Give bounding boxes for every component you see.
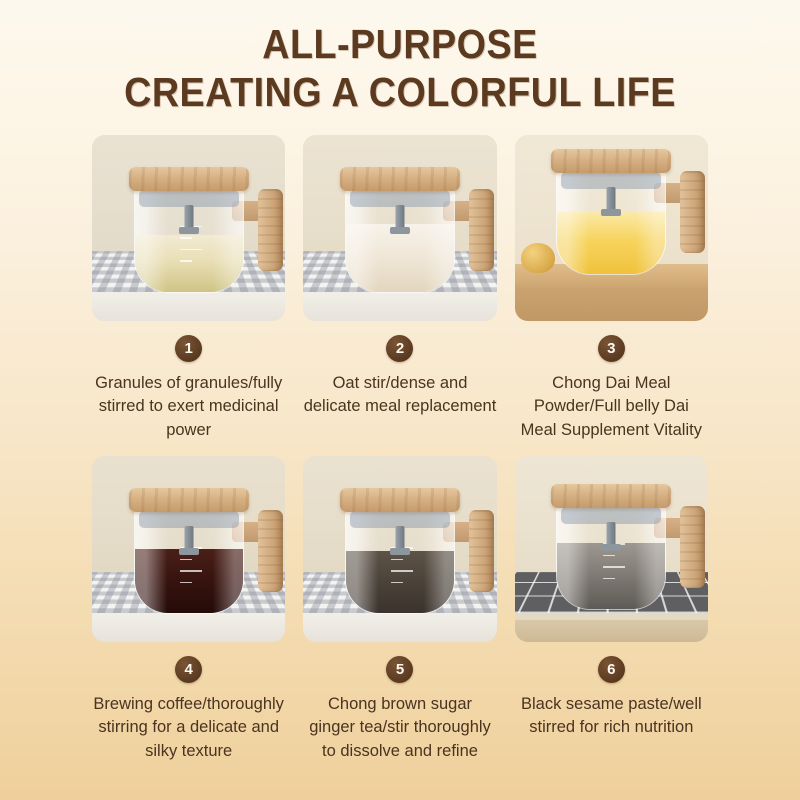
self-stirring-mug bbox=[341, 488, 459, 616]
wooden-lid bbox=[551, 149, 671, 173]
scenario-caption-1: Granules of granules/fully stirred to ex… bbox=[92, 372, 285, 442]
product-photo-4 bbox=[92, 456, 285, 642]
usage-scenario-grid: 1 Granules of granules/fully stirred to … bbox=[0, 135, 800, 764]
stirrer-paddle bbox=[179, 548, 199, 555]
product-photo-1 bbox=[92, 135, 285, 321]
stirrer-paddle bbox=[601, 544, 621, 551]
table-surface bbox=[92, 612, 285, 642]
wooden-lid bbox=[129, 488, 249, 512]
scenario-card-3[interactable]: 3 Chong Dai Meal Powder/Full belly Dai M… bbox=[515, 135, 708, 442]
measurement-marks bbox=[180, 226, 224, 282]
self-stirring-mug bbox=[130, 488, 248, 616]
measurement-marks bbox=[391, 547, 435, 603]
product-photo-6 bbox=[515, 456, 708, 642]
wooden-lid bbox=[551, 484, 671, 508]
stirrer-paddle bbox=[601, 209, 621, 216]
table-surface bbox=[303, 612, 496, 642]
product-photo-5 bbox=[303, 456, 496, 642]
step-badge-6: 6 bbox=[598, 656, 625, 683]
product-photo-2 bbox=[303, 135, 496, 321]
scenario-card-2[interactable]: 2 Oat stir/dense and delicate meal repla… bbox=[303, 135, 496, 442]
table-surface bbox=[515, 620, 708, 642]
measurement-marks bbox=[180, 547, 224, 603]
step-badge-1: 1 bbox=[175, 335, 202, 362]
stirrer-paddle bbox=[390, 227, 410, 234]
self-stirring-mug bbox=[130, 167, 248, 295]
self-stirring-mug bbox=[552, 149, 670, 277]
scenario-caption-3: Chong Dai Meal Powder/Full belly Dai Mea… bbox=[515, 372, 708, 442]
wooden-lid bbox=[340, 488, 460, 512]
self-stirring-mug bbox=[552, 484, 670, 612]
page-title-line-2: CREATING A COLORFUL LIFE bbox=[32, 68, 768, 116]
scenario-card-5[interactable]: 5 Chong brown sugar ginger tea/stir thor… bbox=[303, 456, 496, 763]
measurement-marks bbox=[603, 543, 647, 599]
header: ALL-PURPOSE CREATING A COLORFUL LIFE bbox=[0, 0, 800, 117]
step-badge-3: 3 bbox=[598, 335, 625, 362]
page-title-line-1: ALL-PURPOSE bbox=[32, 20, 768, 68]
scenario-card-4[interactable]: 4 Brewing coffee/thoroughly stirring for… bbox=[92, 456, 285, 763]
scenario-card-1[interactable]: 1 Granules of granules/fully stirred to … bbox=[92, 135, 285, 442]
stirrer-paddle bbox=[179, 227, 199, 234]
scenario-caption-2: Oat stir/dense and delicate meal replace… bbox=[303, 372, 496, 419]
scenario-caption-5: Chong brown sugar ginger tea/stir thorou… bbox=[303, 693, 496, 763]
table-surface bbox=[92, 291, 285, 321]
product-photo-3 bbox=[515, 135, 708, 321]
wooden-lid bbox=[340, 167, 460, 191]
scenario-caption-4: Brewing coffee/thoroughly stirring for a… bbox=[92, 693, 285, 763]
wooden-lid bbox=[129, 167, 249, 191]
self-stirring-mug bbox=[341, 167, 459, 295]
bread-roll bbox=[521, 243, 555, 273]
stirrer-paddle bbox=[390, 548, 410, 555]
scenario-card-6[interactable]: 6 Black sesame paste/well stirred for ri… bbox=[515, 456, 708, 763]
scenario-caption-6: Black sesame paste/well stirred for rich… bbox=[515, 693, 708, 740]
step-badge-5: 5 bbox=[386, 656, 413, 683]
step-badge-4: 4 bbox=[175, 656, 202, 683]
step-badge-2: 2 bbox=[386, 335, 413, 362]
table-surface bbox=[303, 291, 496, 321]
